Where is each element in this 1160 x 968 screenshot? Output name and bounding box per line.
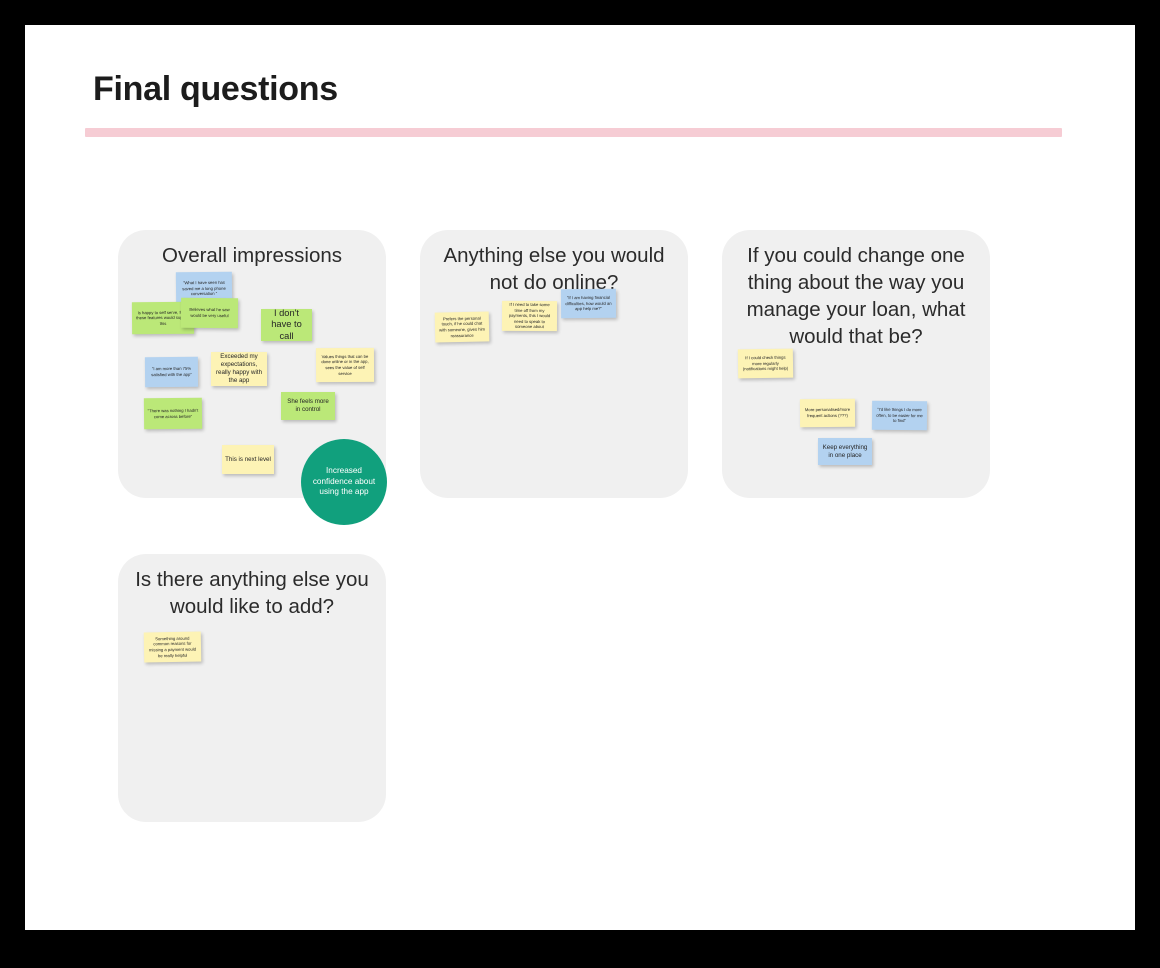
sticky-note[interactable]: She feels more in control (281, 392, 335, 420)
question-panel-overall-impressions: Overall impressions"What I have seen has… (118, 230, 386, 498)
sticky-note[interactable]: I don't have to call (261, 309, 312, 341)
sticky-note[interactable]: This is next level (222, 445, 274, 474)
question-panel-anything-else-to-add: Is there anything else you would like to… (118, 554, 386, 822)
sticky-note[interactable]: "I am more than 75% satisfied with the a… (145, 357, 198, 387)
title-divider (85, 128, 1062, 137)
sticky-note[interactable]: "I'd like things I do more often, to be … (872, 401, 927, 430)
sticky-note[interactable]: "There was nothing I hadn't come across … (144, 398, 202, 430)
sticky-note[interactable]: If I need to take some time off from my … (502, 301, 557, 331)
sticky-note[interactable]: If I could check things more regularly (… (738, 349, 793, 379)
panel-title-change-one-thing: If you could change one thing about the … (736, 242, 976, 350)
page-title: Final questions (93, 70, 338, 109)
sticky-note[interactable]: More personalised/more frequent actions … (800, 399, 855, 427)
sticky-note[interactable]: Prefers the personal touch, if he could … (435, 311, 490, 342)
slide-canvas: Final questions Overall impressions"What… (25, 25, 1135, 930)
question-panel-not-do-online: Anything else you would not do online?Pr… (420, 230, 688, 498)
sticky-note[interactable]: Keep everything in one place (818, 438, 872, 465)
sticky-note[interactable]: Something around common reasons for miss… (144, 632, 202, 663)
question-panel-change-one-thing: If you could change one thing about the … (722, 230, 990, 498)
sticky-note[interactable]: Values things that can be done online or… (316, 348, 374, 382)
sticky-note[interactable]: "If I am having financial difficulties, … (561, 289, 616, 318)
panel-title-overall-impressions: Overall impressions (132, 242, 372, 269)
panel-title-anything-else-to-add: Is there anything else you would like to… (132, 566, 372, 620)
sticky-note[interactable]: Exceeded my expectations, really happy w… (211, 352, 267, 386)
panel-title-not-do-online: Anything else you would not do online? (434, 242, 674, 296)
sticky-note[interactable]: Believes what he saw would be very usefu… (181, 298, 238, 328)
highlight-circle-note[interactable]: Increased confidence about using the app (301, 439, 387, 525)
